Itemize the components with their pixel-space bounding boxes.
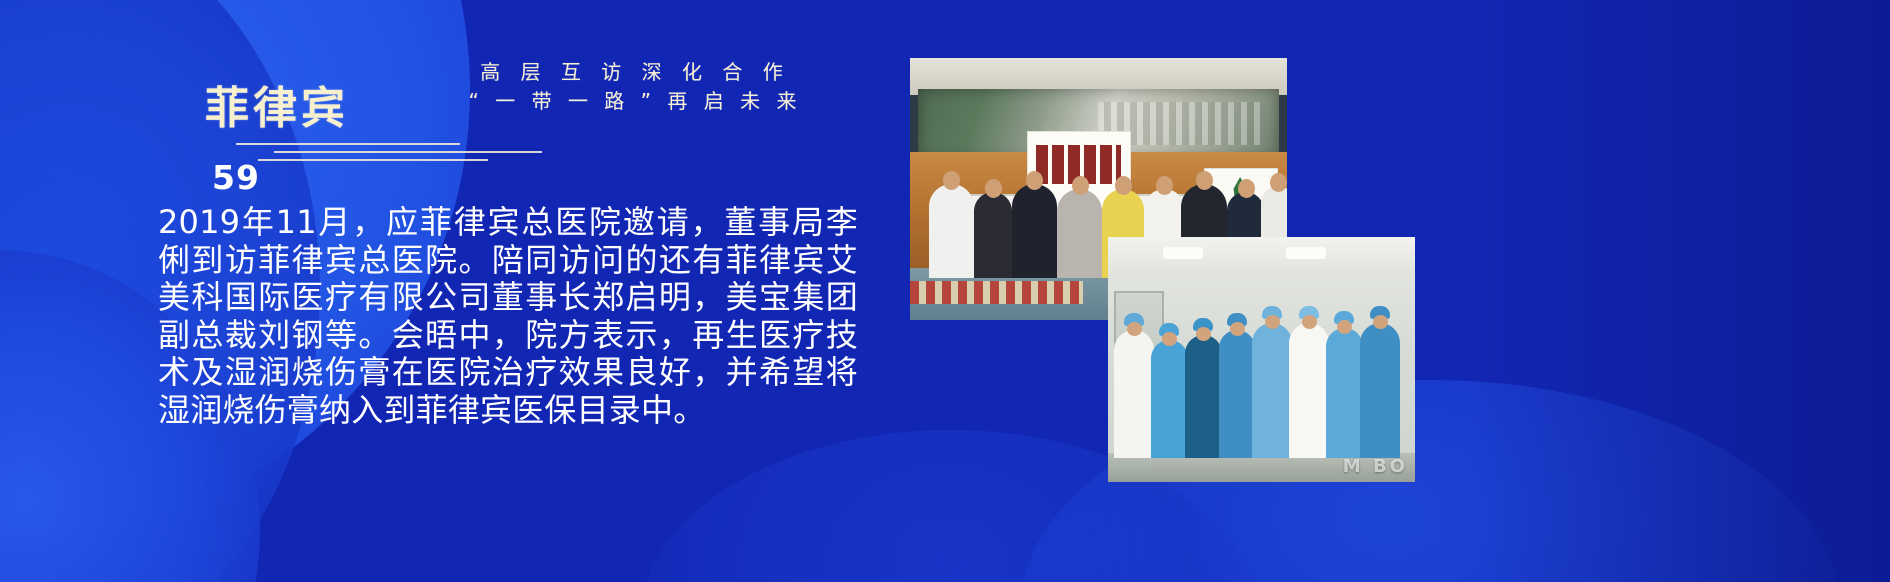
country-title: 菲律宾 <box>205 72 349 136</box>
photo-person <box>1151 340 1188 458</box>
photo-person <box>1252 323 1292 458</box>
photo-person <box>1326 328 1363 458</box>
mebo-watermark: M BO <box>1343 456 1408 477</box>
photo-person <box>929 184 974 278</box>
photo-person <box>1114 330 1154 457</box>
title-rule-2 <box>274 151 542 153</box>
photo-person <box>1057 189 1102 278</box>
photo-person <box>1360 323 1400 458</box>
photo-person <box>1012 184 1057 278</box>
photo-person <box>1289 323 1329 458</box>
photo-rug <box>910 281 1083 305</box>
body-paragraph: 2019年11月，应菲律宾总医院邀请，董事局李俐到访菲律宾总医院。陪同访问的还有… <box>158 204 858 429</box>
photo-person <box>1185 335 1222 458</box>
right-edge-shading <box>1470 0 1890 582</box>
photo-ceiling-light <box>1163 247 1203 259</box>
photo-person <box>1219 330 1256 457</box>
title-underline-decoration <box>236 143 556 169</box>
subtitle-line-1: 高 层 互 访 深 化 合 作 <box>455 58 815 87</box>
title-rule-3 <box>258 159 488 161</box>
photo-ceiling-light <box>1286 247 1326 259</box>
photo-ceiling <box>1108 237 1415 279</box>
subtitle-block: 高 层 互 访 深 化 合 作 “ 一 带 一 路 ” 再 启 未 来 <box>455 58 815 116</box>
page-number: 59 <box>212 158 260 197</box>
slide-root: 菲律宾 59 高 层 互 访 深 化 合 作 “ 一 带 一 路 ” 再 启 未… <box>0 0 1890 582</box>
hospital-staff-photo: M BO <box>1108 237 1415 482</box>
subtitle-line-2: “ 一 带 一 路 ” 再 启 未 来 <box>455 87 815 116</box>
title-rule-1 <box>236 143 460 145</box>
photo-person <box>974 192 1012 278</box>
